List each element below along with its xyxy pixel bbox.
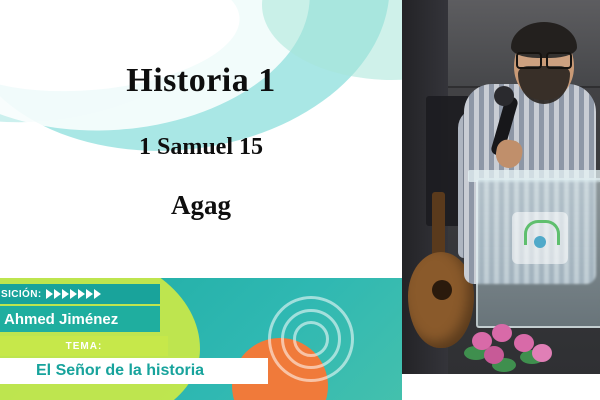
- tema-bar: TEMA:: [0, 336, 168, 356]
- camera-feed-panel: [402, 0, 600, 374]
- flower-arrangement-icon: [462, 320, 558, 374]
- topic-bar: El Señor de la historia: [0, 358, 268, 384]
- concentric-rings-icon: [268, 296, 354, 382]
- microphone-head: [494, 86, 514, 106]
- presentation-slide: Historia 1 1 Samuel 15 Agag: [0, 0, 402, 278]
- speaker-name-bar: Ahmed Jiménez: [0, 306, 160, 332]
- slide-scripture-reference: 1 Samuel 15: [0, 134, 402, 161]
- camera-bottom-strip: [402, 374, 600, 400]
- guitar-soundhole: [432, 280, 452, 300]
- position-label: SICIÓN:: [0, 289, 42, 300]
- broadcast-frame: Historia 1 1 Samuel 15 Agag: [0, 0, 600, 400]
- church-logo-icon: [512, 212, 568, 264]
- slide-title: Historia 1: [0, 62, 402, 100]
- eyeglasses-icon: [516, 52, 572, 66]
- topic-text: El Señor de la historia: [0, 362, 204, 380]
- tema-label: TEMA:: [66, 341, 103, 352]
- slide-subject: Agag: [0, 190, 402, 221]
- chevron-right-arrows-icon: [46, 289, 101, 299]
- speaker-name: Ahmed Jiménez: [0, 311, 118, 328]
- position-bar: SICIÓN:: [0, 284, 160, 304]
